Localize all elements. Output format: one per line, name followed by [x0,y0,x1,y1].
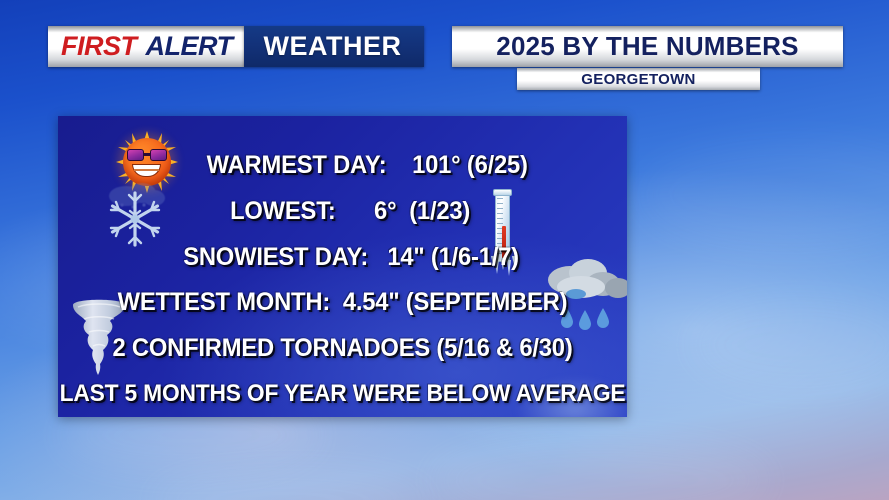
header-bar-row: FIRST ALERT WEATHER [48,26,424,67]
brand-alert-text: ALERT [146,31,233,62]
first-alert-logo: FIRST ALERT [48,26,244,67]
headline-title-bar: 2025 BY THE NUMBERS [452,26,843,67]
weather-word-bar: WEATHER [244,26,424,67]
stat-line-wettest-month: WETTEST MONTH: 4.54" (SEPTEMBER) [72,280,613,326]
stat-line-lowest: LOWEST: 6° (1/23) [72,189,613,235]
stat-line-below-average: LAST 5 MONTHS OF YEAR WERE BELOW AVERAGE [72,371,613,417]
stats-line-list: WARMEST DAY: 101° (6/25) LOWEST: 6° (1/2… [58,116,627,417]
brand-weather-text: WEATHER [264,31,402,62]
stats-panel: WARMEST DAY: 101° (6/25) LOWEST: 6° (1/2… [58,116,627,417]
page-title: 2025 BY THE NUMBERS [496,31,798,62]
stat-line-tornadoes: 2 CONFIRMED TORNADOES (5/16 & 6/30) [72,326,613,372]
weather-graphic-screen: FIRST ALERT WEATHER 2025 BY THE NUMBERS … [0,0,889,500]
cloud-wisp [150,470,430,500]
brand-first-text: FIRST [61,31,137,62]
cloud-wisp [430,440,770,500]
stat-line-snowiest-day: SNOWIEST DAY: 14" (1/6-1/7) [72,234,613,280]
city-subtitle-bar: GEORGETOWN [517,68,760,90]
stat-line-warmest-day: WARMEST DAY: 101° (6/25) [72,143,613,189]
cloud-wisp [690,300,889,390]
city-label: GEORGETOWN [581,71,695,88]
cloud-wisp [640,140,889,250]
